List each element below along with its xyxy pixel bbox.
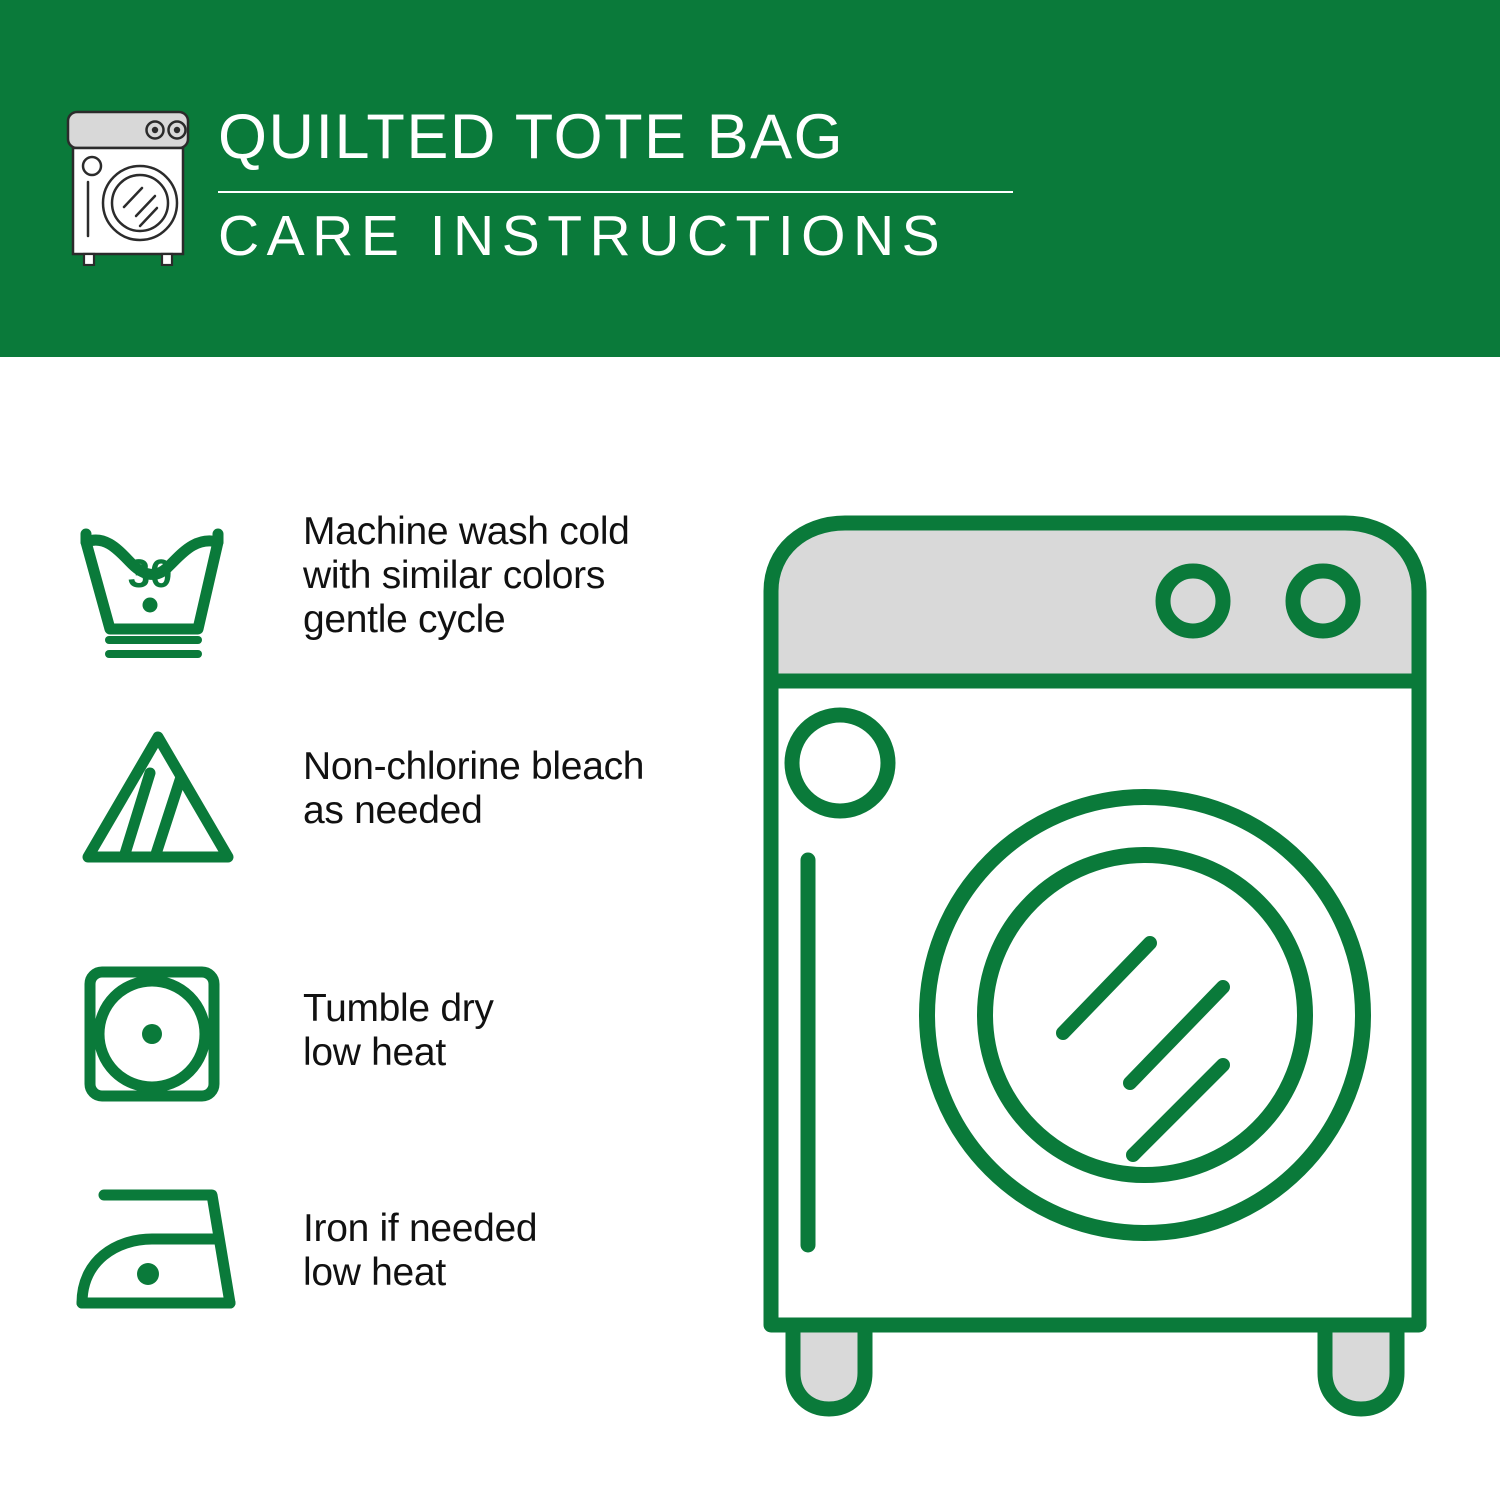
tumble-dry-low-icon	[72, 962, 252, 1112]
page-subtitle: CARE INSTRUCTIONS	[218, 203, 1018, 269]
header-washing-machine-icon	[62, 108, 194, 266]
header-title-group: QUILTED TOTE BAG CARE INSTRUCTIONS	[218, 100, 1018, 269]
care-text-bleach: Non-chlorine bleach as needed	[303, 745, 644, 833]
care-row-machine-wash: 30 Machine wash cold with similar colors…	[0, 512, 730, 662]
title-divider	[218, 191, 1013, 193]
drum-inner-ring	[985, 855, 1305, 1175]
control-knob-right	[1293, 571, 1353, 631]
header-banner: QUILTED TOTE BAG CARE INSTRUCTIONS	[0, 0, 1500, 357]
wash-basin-30-icon: 30	[72, 512, 252, 662]
drum-motion-lines	[1063, 943, 1223, 1155]
care-row-tumble-dry: Tumble dry low heat	[0, 962, 730, 1112]
care-row-iron: Iron if needed low heat	[0, 1182, 730, 1322]
care-row-bleach: Non-chlorine bleach as needed	[0, 725, 730, 875]
svg-text:30: 30	[128, 552, 173, 596]
bleach-triangle-icon	[72, 725, 252, 875]
page-title: QUILTED TOTE BAG	[218, 100, 1018, 174]
iron-low-heat-icon	[72, 1177, 252, 1327]
indicator-circle	[792, 715, 888, 811]
machine-leg-left	[793, 1325, 865, 1409]
care-instructions-infographic: QUILTED TOTE BAG CARE INSTRUCTIONS 30	[0, 0, 1500, 1500]
machine-leg-right	[1325, 1325, 1397, 1409]
care-text-tumble-dry: Tumble dry low heat	[303, 987, 494, 1075]
front-load-washing-machine-illustration	[745, 495, 1445, 1420]
care-instruction-list: 30 Machine wash cold with similar colors…	[0, 357, 730, 1500]
control-knob-left	[1163, 571, 1223, 631]
care-text-machine-wash: Machine wash cold with similar colors ge…	[303, 510, 630, 642]
care-text-iron: Iron if needed low heat	[303, 1207, 537, 1295]
